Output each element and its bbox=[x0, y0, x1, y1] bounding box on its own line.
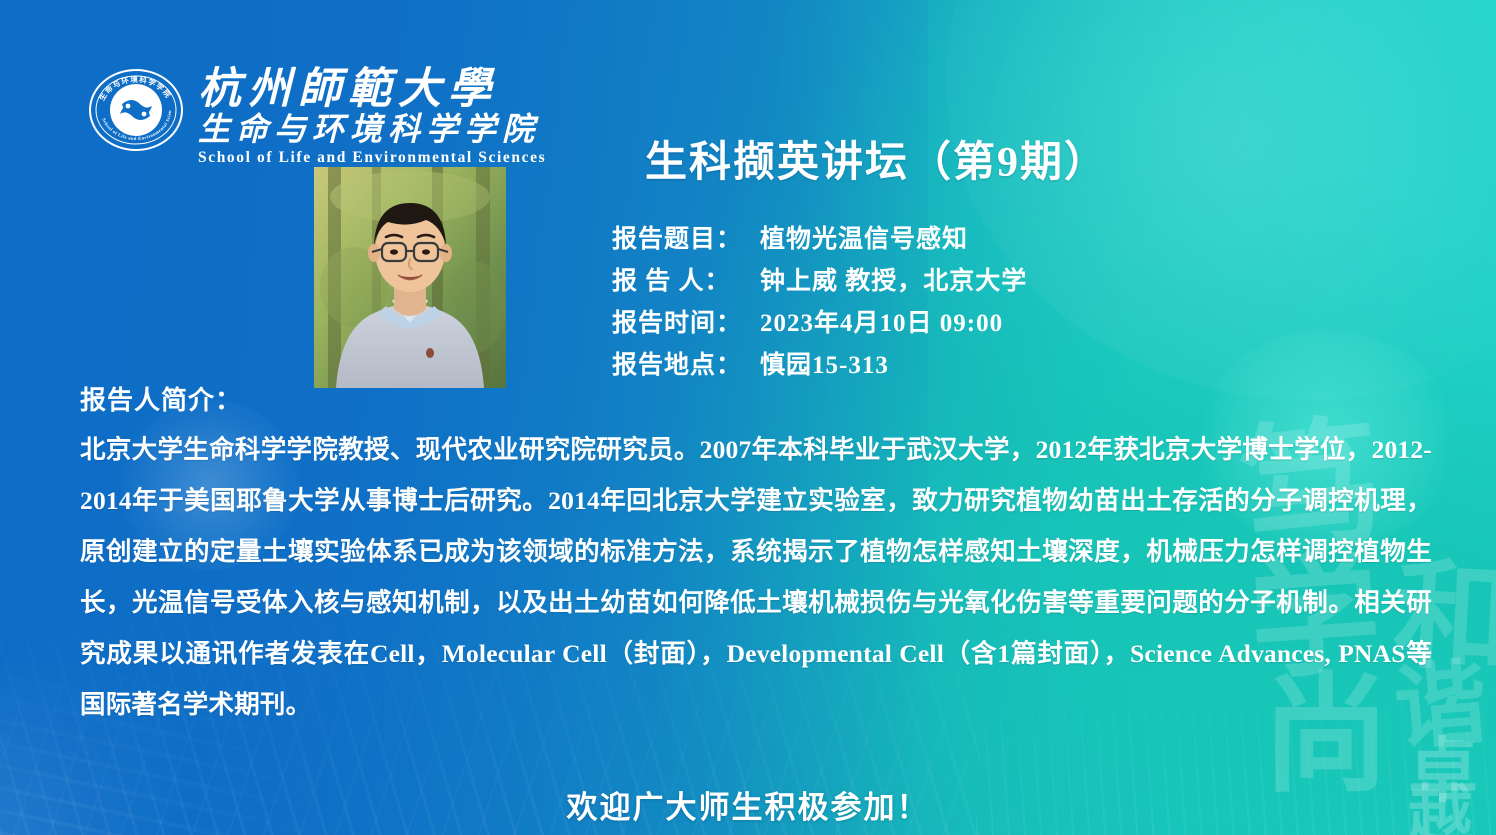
detail-row-speaker: 报 告 人： 钟上威 教授，北京大学 bbox=[612, 261, 1027, 303]
logo-college-name: 生命与环境科学学院 bbox=[198, 112, 546, 147]
lecture-poster: 笃 学 和 谐 尚 卓 越 生命与环境科学学院 bbox=[0, 0, 1496, 835]
speaker-photo bbox=[314, 167, 506, 388]
bio-text: 北京大学生命科学学院教授、现代农业研究院研究员。2007年本科毕业于武汉大学，2… bbox=[80, 424, 1432, 730]
logo-wordmark: 杭州師範大學 生命与环境科学学院 School of Life and Envi… bbox=[198, 62, 546, 167]
detail-label-speaker: 报 告 人： bbox=[612, 261, 760, 297]
detail-label-topic: 报告题目： bbox=[612, 219, 760, 255]
detail-value-topic: 植物光温信号感知 bbox=[760, 219, 968, 255]
detail-label-time: 报告时间： bbox=[612, 303, 760, 339]
detail-row-topic: 报告题目： 植物光温信号感知 bbox=[612, 219, 1027, 261]
detail-value-time: 2023年4月10日 09:00 bbox=[760, 303, 1003, 339]
lecture-details: 报告题目： 植物光温信号感知 报 告 人： 钟上威 教授，北京大学 报告时间： … bbox=[612, 219, 1027, 387]
logo-college-name-en: School of Life and Environmental Science… bbox=[198, 149, 546, 167]
logo-university-name: 杭州師範大學 bbox=[198, 68, 546, 112]
footer-invitation: 欢迎广大师生积极参加！ bbox=[0, 782, 1496, 827]
detail-label-location: 报告地点： bbox=[612, 345, 760, 381]
seal-icon: 生命与环境科学学院 School of Life and Environment… bbox=[88, 62, 184, 158]
detail-value-speaker: 钟上威 教授，北京大学 bbox=[760, 261, 1027, 297]
bio-heading: 报告人简介： bbox=[80, 380, 242, 417]
detail-row-time: 报告时间： 2023年4月10日 09:00 bbox=[612, 303, 1027, 345]
university-logo: 生命与环境科学学院 School of Life and Environment… bbox=[88, 62, 546, 167]
page-title: 生科撷英讲坛（第9期） bbox=[645, 128, 1108, 189]
detail-value-location: 慎园15-313 bbox=[760, 345, 889, 381]
detail-row-location: 报告地点： 慎园15-313 bbox=[612, 345, 1027, 387]
